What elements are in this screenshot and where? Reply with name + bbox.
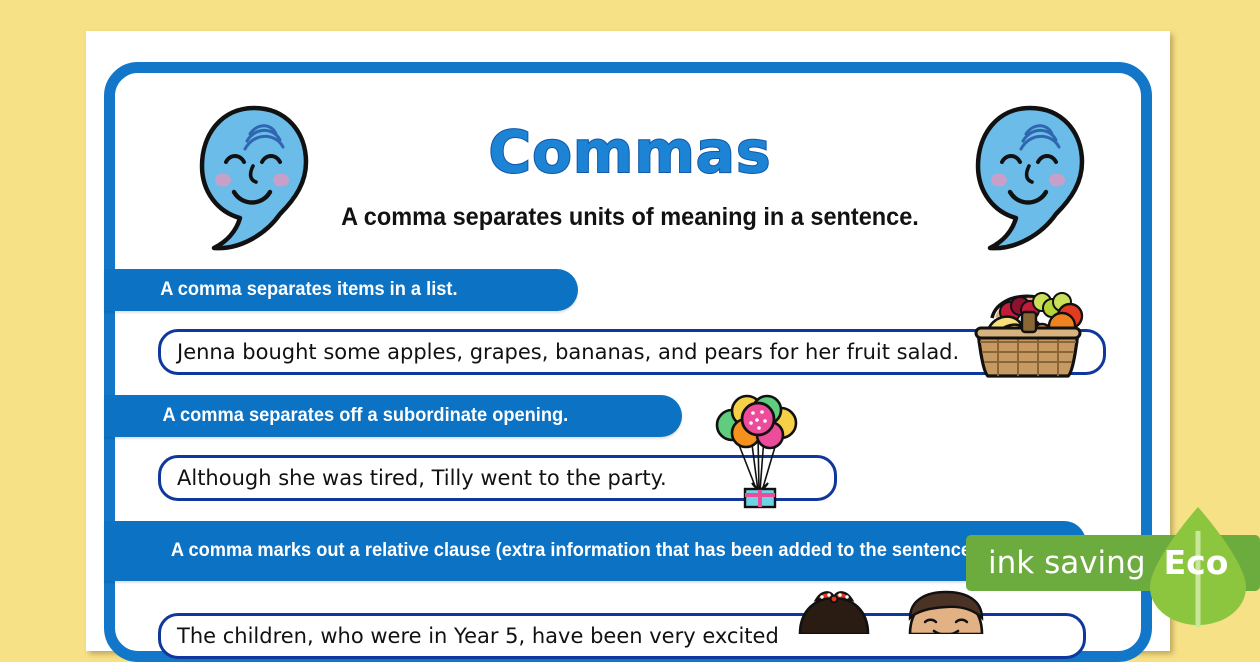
rule-banner-3-label: A comma marks out a relative clause (ext… (171, 539, 982, 562)
poster-canvas: Commas A comma separates units of meanin… (0, 0, 1260, 630)
rule-example-3-text: The children, who were in Year 5, have b… (177, 624, 779, 648)
rule-banner-1: A comma separates items in a list. (104, 269, 578, 311)
rule-example-1-text: Jenna bought some apples, grapes, banana… (177, 340, 959, 364)
rule-banner-2-label: A comma separates off a subordinate open… (162, 405, 568, 427)
comma-character-left-icon (196, 104, 312, 257)
two-children-icon (786, 588, 990, 639)
rule-banner-1-label: A comma separates items in a list. (160, 279, 457, 301)
rule-example-2-text: Although she was tired, Tilly went to th… (177, 466, 667, 490)
rule-banner-3: A comma marks out a relative clause (ext… (104, 521, 1086, 581)
eco-label: Eco (1148, 539, 1244, 585)
balloons-with-gift-icon (712, 391, 808, 514)
fruit-basket-icon (958, 272, 1098, 385)
rule-banner-2: A comma separates off a subordinate open… (104, 395, 682, 437)
comma-character-right-icon (972, 104, 1088, 257)
